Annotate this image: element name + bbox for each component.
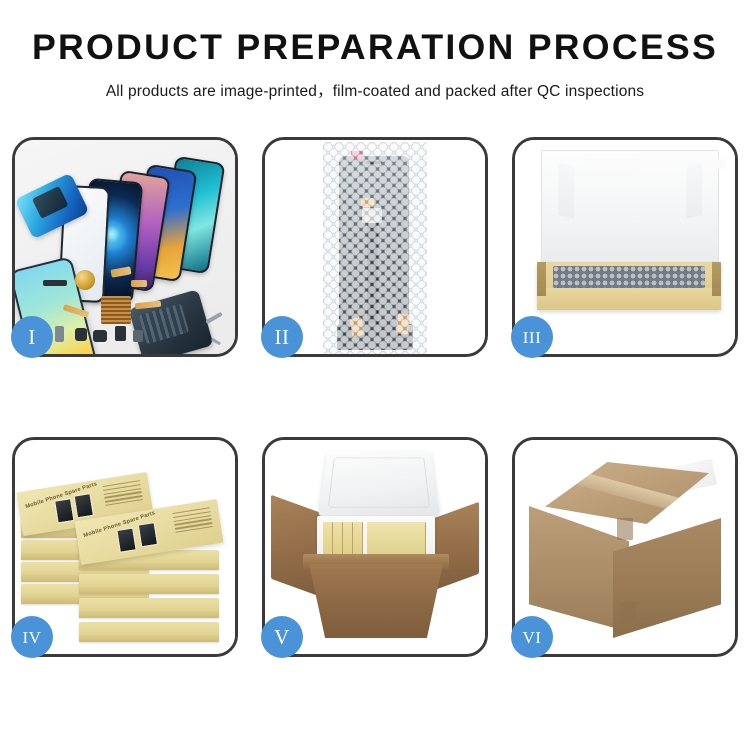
process-step-2: II xyxy=(262,137,488,357)
step-6-image xyxy=(515,440,735,654)
carton-seal-lower xyxy=(621,602,636,622)
sealed-carton xyxy=(529,462,721,634)
preparation-process-page: PRODUCT PREPARATION PROCESS All products… xyxy=(0,0,750,750)
speaker-part xyxy=(75,270,95,290)
mailer-tray-front xyxy=(537,288,721,310)
earpiece-part xyxy=(43,280,67,286)
box-screen-image-3 xyxy=(116,527,136,552)
mailer-corner-left xyxy=(537,262,546,296)
page-header: PRODUCT PREPARATION PROCESS All products… xyxy=(0,0,750,101)
step-badge-4: IV xyxy=(11,616,53,658)
step-1-image xyxy=(15,140,235,354)
process-step-5: V xyxy=(262,437,488,657)
carton-top-face xyxy=(545,462,709,524)
step-4-image: Mobile Phone Spare Parts Mobile Phone Sp… xyxy=(15,440,235,654)
vibrator-part xyxy=(93,330,107,342)
foam-lid xyxy=(318,451,440,516)
box-screen-image-4 xyxy=(138,522,158,547)
flex-cable-part-2 xyxy=(131,280,147,287)
bubble-texture xyxy=(323,142,427,354)
mailer-lid-flap-right xyxy=(686,163,702,219)
box-screen-image-1 xyxy=(54,498,74,523)
connector-part xyxy=(115,326,126,341)
mailer-lid-top-edge xyxy=(584,159,726,169)
step-badge-6: VI xyxy=(511,616,553,658)
carton-seal-upper xyxy=(617,518,633,540)
mailer-corner-right xyxy=(712,262,721,296)
page-subtitle: All products are image-printed，film-coat… xyxy=(0,79,750,101)
step-5-image xyxy=(265,440,485,654)
step-2-image xyxy=(265,140,485,354)
camera-module-part xyxy=(75,328,87,341)
copper-shield-part xyxy=(101,296,131,324)
process-step-6: VI xyxy=(512,437,738,657)
box-screen-image-2 xyxy=(74,493,94,518)
box-spec-lines-back xyxy=(102,480,144,512)
foam-packing-contents xyxy=(553,266,705,288)
mailer-lid xyxy=(541,150,719,270)
box-stack: Mobile Phone Spare Parts Mobile Phone Sp… xyxy=(19,456,231,648)
sim-tray-part xyxy=(55,326,64,342)
mailer-lid-flap-left xyxy=(558,163,574,219)
process-step-4: Mobile Phone Spare Parts Mobile Phone Sp… xyxy=(12,437,238,657)
mailer-tray xyxy=(537,262,721,310)
box-spec-lines-front xyxy=(172,507,214,539)
carton-body xyxy=(309,564,443,638)
process-step-1: I xyxy=(12,137,238,357)
process-step-grid: I II xyxy=(12,137,739,657)
step-badge-5: V xyxy=(261,616,303,658)
bubble-wrap-bag xyxy=(323,142,427,354)
process-step-3: III xyxy=(512,137,738,357)
packing-tape xyxy=(565,468,721,522)
button-part xyxy=(133,330,143,342)
page-title: PRODUCT PREPARATION PROCESS xyxy=(0,30,750,65)
step-badge-3: III xyxy=(511,316,553,358)
step-badge-2: II xyxy=(261,316,303,358)
step-3-image xyxy=(515,140,735,354)
step-badge-1: I xyxy=(11,316,53,358)
